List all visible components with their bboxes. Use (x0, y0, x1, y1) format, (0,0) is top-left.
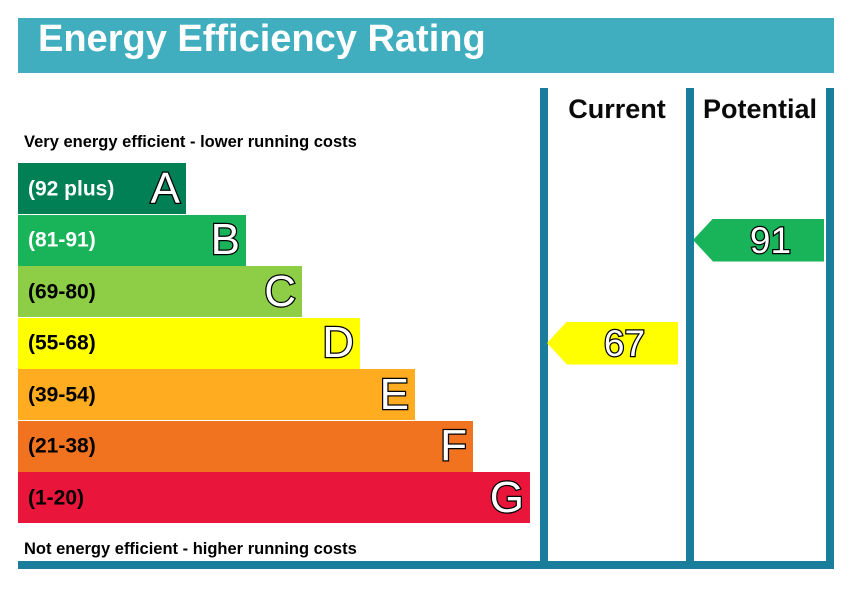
band-range-label: (21-38) (28, 436, 96, 457)
column-header-potential: Potential (694, 92, 826, 126)
band-letter-label: E (380, 373, 409, 417)
band-range-label: (1-20) (28, 487, 84, 508)
column-divider-left (540, 88, 548, 568)
band-range-label: (55-68) (28, 333, 96, 354)
band-range-label: (81-91) (28, 230, 96, 251)
band-letter-label: F (440, 424, 467, 468)
column-divider-middle (686, 88, 694, 568)
column-header-current: Current (548, 92, 686, 126)
band-g: (1-20)G (18, 472, 530, 523)
band-letter-label: G (490, 476, 524, 520)
band-letter-label: D (322, 321, 354, 365)
band-a: (92 plus)A (18, 163, 186, 214)
rating-arrow-current: 67 (547, 322, 678, 365)
bottom-border (18, 561, 834, 569)
rating-value-current: 67 (547, 322, 678, 365)
rating-value-potential: 91 (693, 219, 824, 262)
energy-efficiency-rating-chart: Energy Efficiency Rating Current Potenti… (0, 0, 852, 603)
page-title: Energy Efficiency Rating (38, 20, 486, 58)
band-f: (21-38)F (18, 421, 473, 472)
band-letter-label: B (211, 218, 240, 262)
band-range-label: (92 plus) (28, 178, 114, 199)
band-b: (81-91)B (18, 215, 246, 266)
rating-arrow-potential: 91 (693, 219, 824, 262)
band-e: (39-54)E (18, 369, 415, 420)
caption-very-efficient: Very energy efficient - lower running co… (24, 133, 357, 152)
band-c: (69-80)C (18, 266, 302, 317)
column-divider-right (826, 88, 834, 568)
caption-not-efficient: Not energy efficient - higher running co… (24, 540, 357, 559)
band-letter-label: C (264, 270, 296, 314)
band-range-label: (69-80) (28, 281, 96, 302)
band-letter-label: A (151, 167, 180, 211)
band-range-label: (39-54) (28, 384, 96, 405)
band-d: (55-68)D (18, 318, 360, 369)
